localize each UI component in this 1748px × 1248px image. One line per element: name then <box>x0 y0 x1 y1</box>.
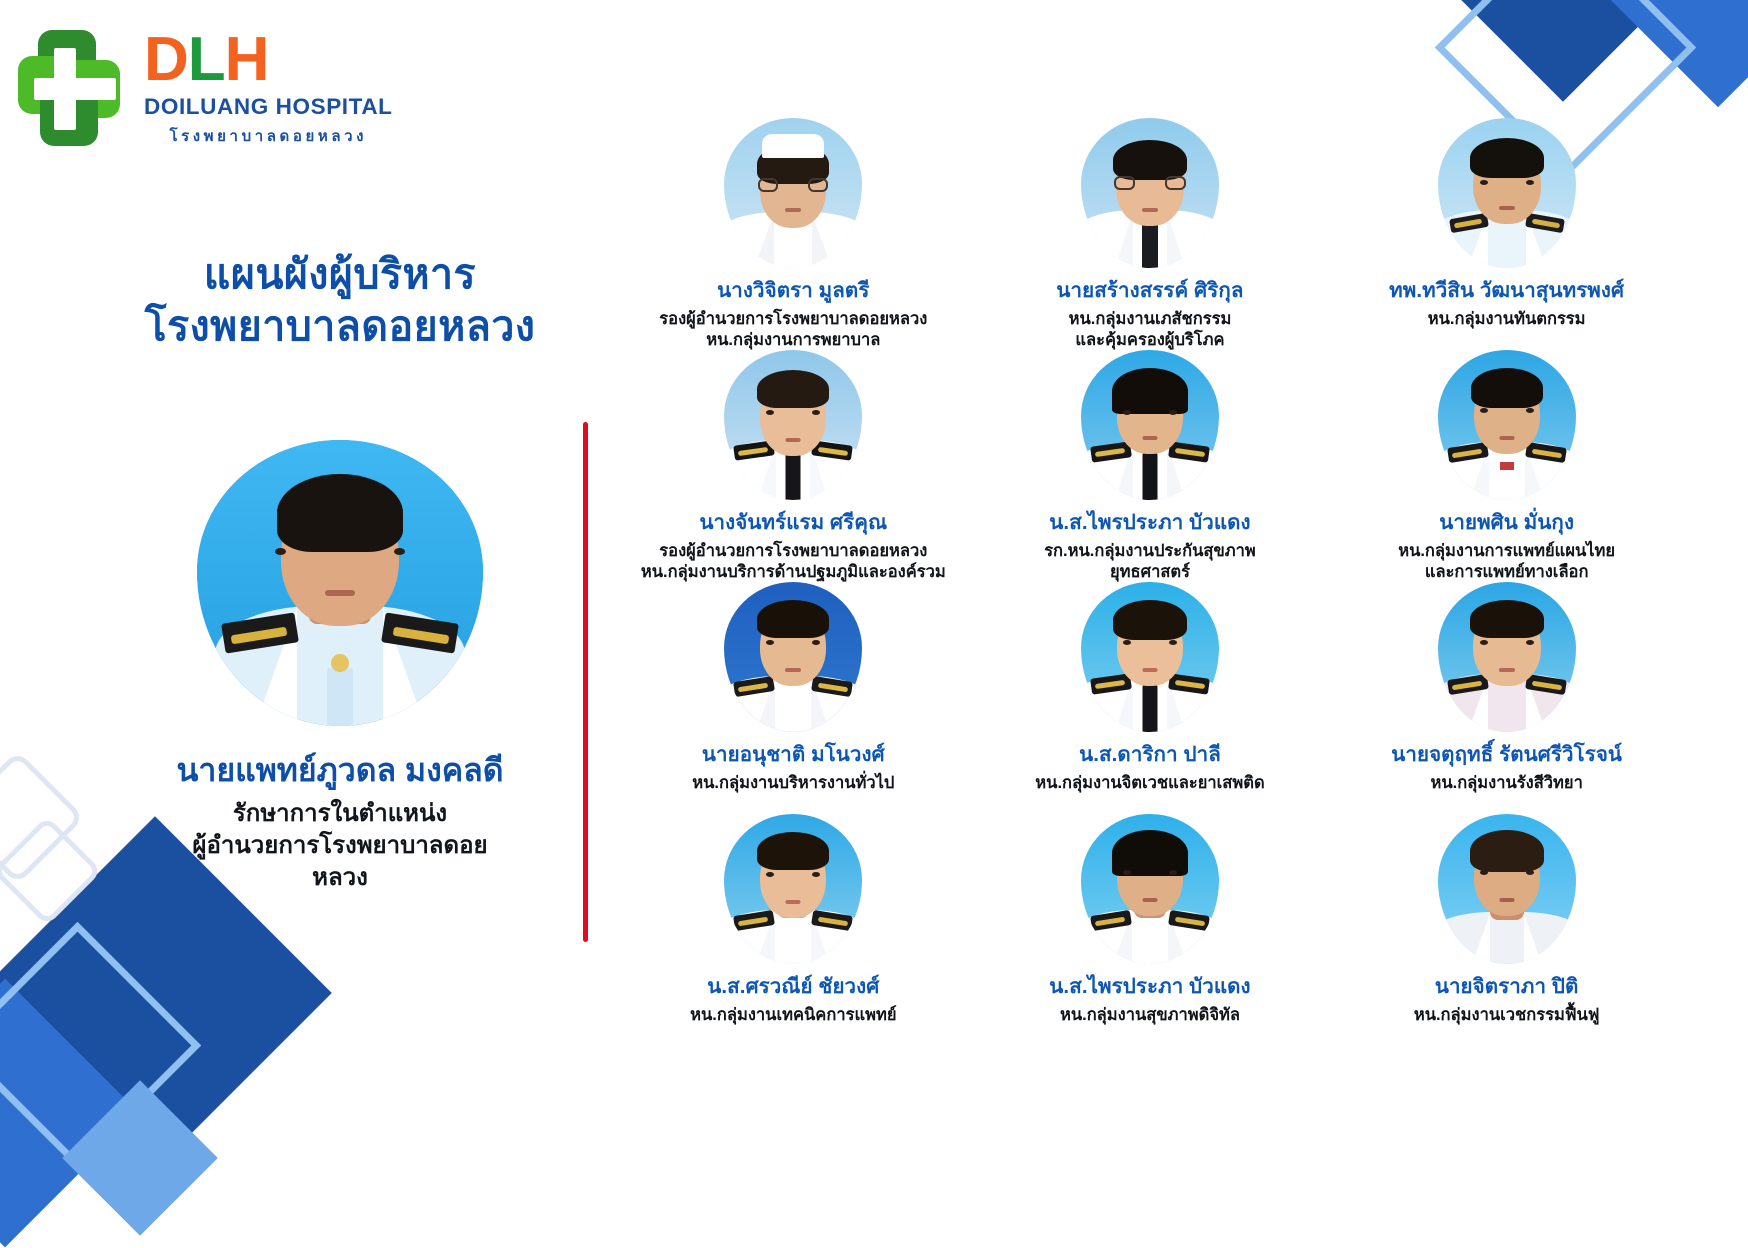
page-title: แผนผังผู้บริหาร โรงพยาบาลดอยหลวง <box>120 248 560 352</box>
staff-role-line1: รองผู้อำนวยการโรงพยาบาลดอยหลวง <box>620 541 967 562</box>
staff-grid: นางวิจิตรา มูลตรี รองผู้อำนวยการโรงพยาบา… <box>620 118 1680 1046</box>
director-avatar <box>197 440 483 726</box>
section-divider <box>583 422 588 942</box>
staff-role-line1: รก.หน.กลุ่มงานประกันสุขภาพ <box>977 541 1324 562</box>
staff-avatar <box>1438 350 1576 500</box>
staff-avatar <box>724 582 862 732</box>
logo-lettermark: DLH <box>144 28 393 92</box>
staff-card: นายพศิน มั่นกุง หน.กลุ่มงานการแพทย์แผนไท… <box>1333 350 1680 582</box>
staff-role-line2: หน.กลุ่มงานบริการด้านปฐมภูมิและองค์รวม <box>620 562 967 583</box>
staff-card: นางวิจิตรา มูลตรี รองผู้อำนวยการโรงพยาบา… <box>620 118 967 350</box>
decoration-bottom-left <box>0 848 400 1248</box>
director-role-line2: ผู้อำนวยการโรงพยาบาลดอยหลวง <box>175 830 505 894</box>
staff-role-line1: หน.กลุ่มงานเทคนิคการแพทย์ <box>620 1005 967 1026</box>
staff-role-line2: และคุ้มครองผู้บริโภค <box>977 330 1324 351</box>
staff-avatar <box>1081 814 1219 964</box>
logo-subtitle: DOILUANG HOSPITAL <box>144 94 393 120</box>
staff-avatar <box>724 350 862 500</box>
staff-avatar <box>724 118 862 268</box>
staff-avatar <box>1438 814 1576 964</box>
staff-avatar <box>1438 118 1576 268</box>
staff-card: นายจตุฤทธิ์ รัตนศรีวิโรจน์ หน.กลุ่มงานรั… <box>1333 582 1680 814</box>
staff-card: น.ส.ไพรประภา บัวแดง หน.กลุ่มงานสุขภาพดิจ… <box>977 814 1324 1046</box>
staff-name: น.ส.ดาริกา ปาลี <box>977 742 1324 768</box>
staff-role-line1: หน.กลุ่มงานจิตเวชและยาเสพติด <box>977 773 1324 794</box>
logo-letter-l: L <box>188 25 225 94</box>
staff-name: น.ส.ไพรประภา บัวแดง <box>977 974 1324 1000</box>
staff-name: นายพศิน มั่นกุง <box>1333 510 1680 536</box>
staff-name: นายสร้างสรรค์ ศิริกุล <box>977 278 1324 304</box>
staff-name: นางจันทร์แรม ศรีคุณ <box>620 510 967 536</box>
director-role-line1: รักษาการในตำแหน่ง <box>175 798 505 830</box>
staff-avatar <box>1081 118 1219 268</box>
staff-role-line1: หน.กลุ่มงานทันตกรรม <box>1333 309 1680 330</box>
staff-name: นายจิตราภา ปิติ <box>1333 974 1680 1000</box>
staff-card: นายสร้างสรรค์ ศิริกุล หน.กลุ่มงานเภสัชกร… <box>977 118 1324 350</box>
staff-name: ทพ.ทวีสิน วัฒนาสุนทรพงศ์ <box>1333 278 1680 304</box>
logo-letter-d: D <box>144 25 188 94</box>
staff-card: นายจิตราภา ปิติ หน.กลุ่มงานเวชกรรมฟื้นฟู <box>1333 814 1680 1046</box>
page-title-line1: แผนผังผู้บริหาร <box>120 248 560 300</box>
staff-role-line1: หน.กลุ่มงานเภสัชกรรม <box>977 309 1324 330</box>
staff-name: น.ส.ศรวณีย์ ชัยวงศ์ <box>620 974 967 1000</box>
staff-avatar <box>724 814 862 964</box>
logo-letter-h: H <box>225 25 269 94</box>
medical-cross-icon <box>18 30 136 148</box>
staff-card: น.ส.ศรวณีย์ ชัยวงศ์ หน.กลุ่มงานเทคนิคการ… <box>620 814 967 1046</box>
staff-role-line1: หน.กลุ่มงานการแพทย์แผนไทย <box>1333 541 1680 562</box>
staff-card: นางจันทร์แรม ศรีคุณ รองผู้อำนวยการโรงพยา… <box>620 350 967 582</box>
decoration-mid-left <box>0 770 130 960</box>
director-name: นายแพทย์ภูวดล มงคลดี <box>175 750 505 790</box>
logo-thai-name: โรงพยาบาลดอยหลวง <box>144 124 393 148</box>
page-title-line2: โรงพยาบาลดอยหลวง <box>120 300 560 352</box>
staff-avatar <box>1081 350 1219 500</box>
staff-role-line1: หน.กลุ่มงานเวชกรรมฟื้นฟู <box>1333 1005 1680 1026</box>
staff-avatar <box>1438 582 1576 732</box>
staff-role-line1: หน.กลุ่มงานสุขภาพดิจิทัล <box>977 1005 1324 1026</box>
staff-name: นายจตุฤทธิ์ รัตนศรีวิโรจน์ <box>1333 742 1680 768</box>
poster-canvas: DLH DOILUANG HOSPITAL โรงพยาบาลดอยหลวง แ… <box>0 0 1748 1248</box>
staff-card: นายอนุชาติ มโนวงศ์ หน.กลุ่มงานบริหารงานท… <box>620 582 967 814</box>
staff-name: นางวิจิตรา มูลตรี <box>620 278 967 304</box>
staff-role-line2: และการแพทย์ทางเลือก <box>1333 562 1680 583</box>
staff-name: นายอนุชาติ มโนวงศ์ <box>620 742 967 768</box>
hospital-logo: DLH DOILUANG HOSPITAL โรงพยาบาลดอยหลวง <box>18 22 398 162</box>
staff-card: น.ส.ดาริกา ปาลี หน.กลุ่มงานจิตเวชและยาเส… <box>977 582 1324 814</box>
staff-role-line1: หน.กลุ่มงานรังสีวิทยา <box>1333 773 1680 794</box>
director-card: นายแพทย์ภูวดล มงคลดี รักษาการในตำแหน่ง ผ… <box>175 440 505 894</box>
staff-avatar <box>1081 582 1219 732</box>
staff-role-line1: รองผู้อำนวยการโรงพยาบาลดอยหลวง <box>620 309 967 330</box>
staff-name: น.ส.ไพรประภา บัวแดง <box>977 510 1324 536</box>
staff-card: ทพ.ทวีสิน วัฒนาสุนทรพงศ์ หน.กลุ่มงานทันต… <box>1333 118 1680 350</box>
staff-role-line2: หน.กลุ่มงานการพยาบาล <box>620 330 967 351</box>
staff-role-line2: ยุทธศาสตร์ <box>977 562 1324 583</box>
staff-role-line1: หน.กลุ่มงานบริหารงานทั่วไป <box>620 773 967 794</box>
staff-card: น.ส.ไพรประภา บัวแดง รก.หน.กลุ่มงานประกัน… <box>977 350 1324 582</box>
